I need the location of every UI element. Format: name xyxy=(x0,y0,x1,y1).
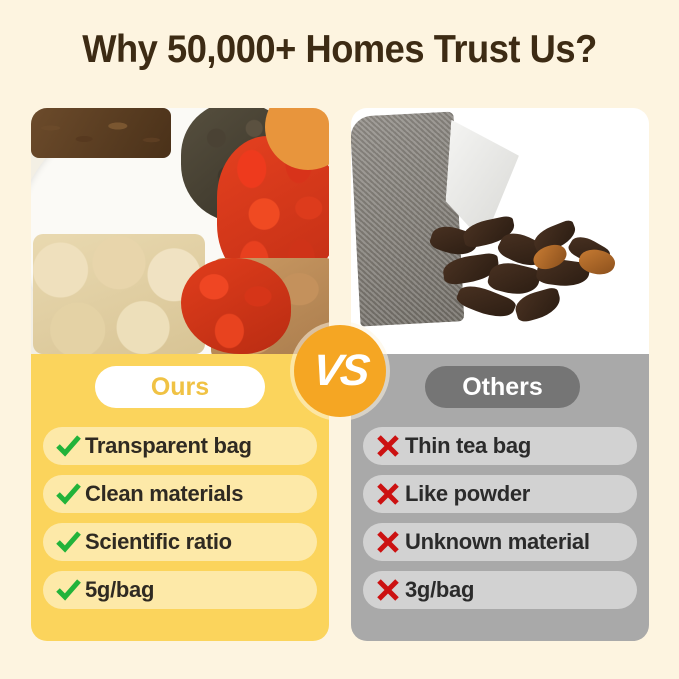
others-badge-label: Others xyxy=(462,373,543,402)
vs-label: VS xyxy=(310,346,370,396)
list-item: Clean materials xyxy=(43,475,317,513)
list-item: Unknown material xyxy=(363,523,637,561)
dark-tea-leaves-pile xyxy=(429,220,649,348)
list-item-label: Clean materials xyxy=(85,481,243,507)
ours-badge-label: Ours xyxy=(151,373,209,402)
list-item-label: Scientific ratio xyxy=(85,529,232,555)
list-item-label: 3g/bag xyxy=(405,577,474,603)
others-badge: Others xyxy=(425,366,580,408)
check-icon xyxy=(53,527,83,557)
list-item: Scientific ratio xyxy=(43,523,317,561)
list-item: Like powder xyxy=(363,475,637,513)
others-feature-list: Thin tea bag Like powder Unknown materia… xyxy=(363,427,637,619)
list-item: Transparent bag xyxy=(43,427,317,465)
cross-icon xyxy=(373,479,403,509)
ours-column: Ours Transparent bag Clean materials xyxy=(31,108,329,641)
list-item-label: Like powder xyxy=(405,481,530,507)
list-item-label: Thin tea bag xyxy=(405,433,531,459)
cross-icon xyxy=(373,575,403,605)
licorice-root-slices xyxy=(33,234,205,354)
list-item: 5g/bag xyxy=(43,571,317,609)
comparison-infographic: Why 50,000+ Homes Trust Us? Ours xyxy=(0,0,679,679)
list-item: Thin tea bag xyxy=(363,427,637,465)
ours-badge: Ours xyxy=(95,366,265,408)
check-icon xyxy=(53,431,83,461)
cross-icon xyxy=(373,527,403,557)
list-item-label: 5g/bag xyxy=(85,577,154,603)
list-item-label: Transparent bag xyxy=(85,433,252,459)
list-item: 3g/bag xyxy=(363,571,637,609)
list-item-label: Unknown material xyxy=(405,529,590,555)
others-column: Others Thin tea bag Like powder xyxy=(351,108,649,641)
others-product-photo xyxy=(351,108,649,354)
check-icon xyxy=(53,575,83,605)
vs-badge: VS xyxy=(294,325,386,417)
cross-icon xyxy=(373,431,403,461)
ours-product-photo xyxy=(31,108,329,354)
check-icon xyxy=(53,479,83,509)
ours-feature-list: Transparent bag Clean materials Scientif… xyxy=(43,427,317,619)
page-title: Why 50,000+ Homes Trust Us? xyxy=(24,28,655,72)
